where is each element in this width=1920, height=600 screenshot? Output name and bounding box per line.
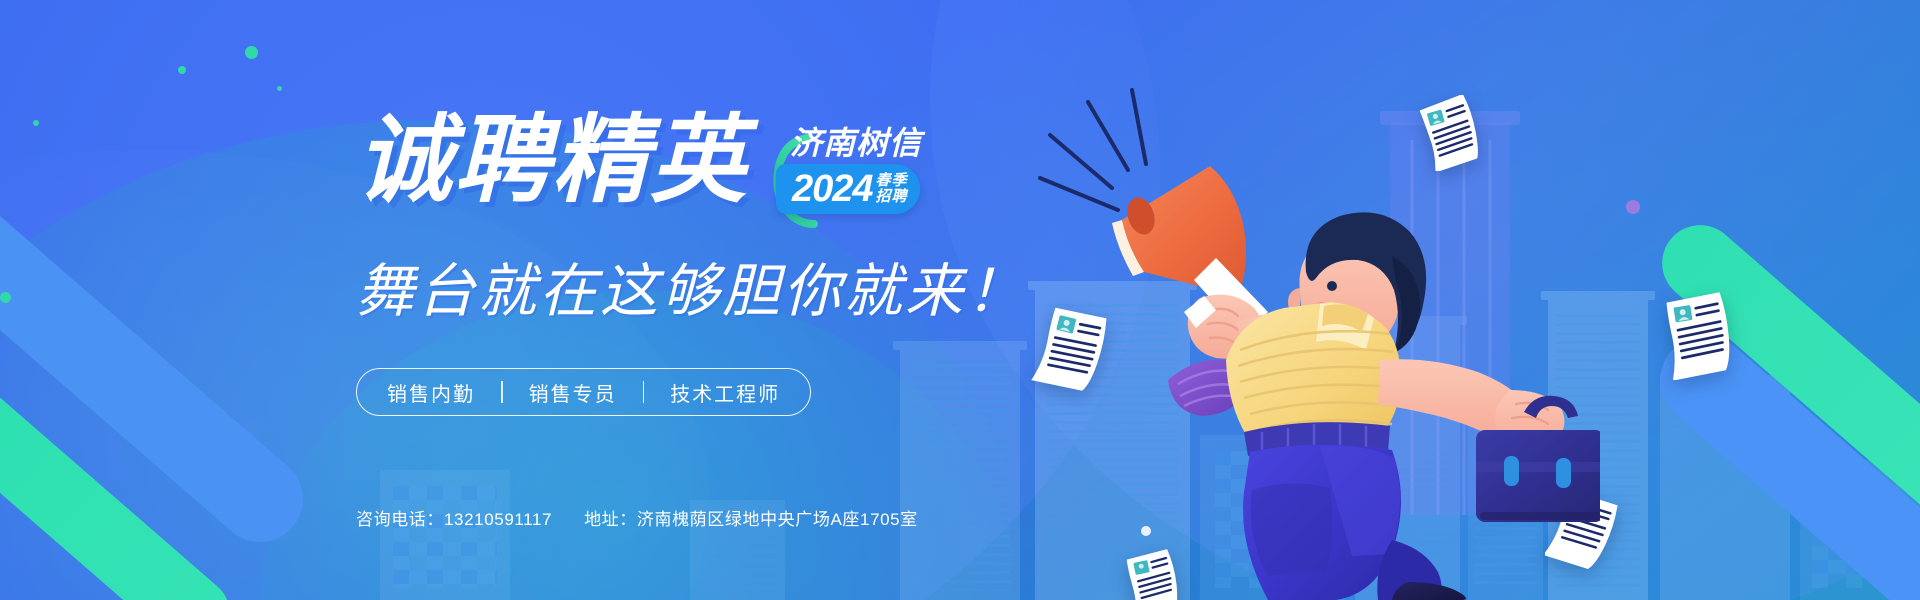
job-positions-pill: 销售内勤 销售专员 技术工程师 [356,368,811,416]
company-name: 济南树信 [790,118,922,164]
job-position-sales-rep[interactable]: 销售专员 [529,378,617,407]
status-badge: 2024 春季 招聘 [776,164,920,214]
contact-phone[interactable]: 咨询电话：13210591117 [356,505,552,530]
page-subtitle: 舞台就在这够胆你就来！ [356,244,1096,328]
decor-dot [1626,200,1640,214]
briefcase-clasp [1556,458,1571,488]
shoe [1392,582,1466,600]
briefcase-clasp [1504,456,1519,486]
banner-text-block: 诚聘精英 济南树信 2024 春季 招聘 [356,112,1096,416]
badge-season: 春季 招聘 [876,173,908,205]
page-title: 诚聘精英 [356,112,748,210]
recruitment-badge-group: 济南树信 2024 春季 招聘 [770,118,940,222]
decor-dot [245,46,258,59]
job-position-sales-office[interactable]: 销售内勤 [387,378,475,407]
decor-dot [33,120,39,126]
divider [501,381,503,403]
decor-dot [277,86,282,91]
badge-season-line1: 春季 [876,173,908,189]
legs [1243,444,1466,600]
contact-info: 咨询电话：13210591117 地址：济南槐荫区绿地中央广场A座1705室 [356,505,918,530]
resume-paper-icon [1656,290,1742,380]
divider [643,381,645,403]
eye [1327,281,1337,291]
decor-dot [178,66,186,74]
job-position-tech-engineer[interactable]: 技术工程师 [670,378,780,407]
decor-dot [0,292,11,303]
badge-season-line2: 招聘 [876,189,908,205]
building-silhouette [380,470,510,600]
contact-address: 地址：济南槐荫区绿地中央广场A座1705室 [584,505,918,530]
recruitment-banner: 诚聘精英 济南树信 2024 春季 招聘 [0,0,1920,600]
badge-year: 2024 [792,170,873,208]
